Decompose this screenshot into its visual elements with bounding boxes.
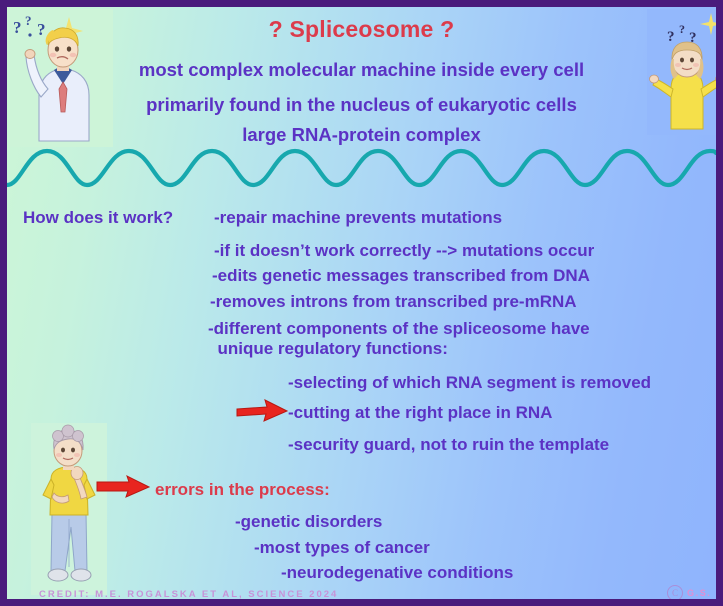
page-title: ? Spliceosome ? — [7, 16, 716, 43]
standing-person-illustration — [31, 423, 107, 595]
copyright-icon: C — [667, 585, 683, 601]
right-arrow-icon-cutting — [235, 398, 289, 424]
how-does-it-work-label: How does it work? — [23, 208, 173, 228]
headline-2: primarily found in the nucleus of eukary… — [7, 94, 716, 116]
right-arrow-icon-errors — [95, 474, 151, 500]
headline-1: most complex molecular machine inside ev… — [7, 59, 716, 81]
bullet-item-3: -edits genetic messages transcribed from… — [212, 266, 590, 286]
poster-root: ? ? ? — [0, 0, 723, 606]
sub-bullet-item-1: -selecting of which RNA segment is remov… — [288, 373, 651, 393]
credit-line: CREDIT: M.E. ROGALSKA ET AL, SCIENCE 202… — [39, 589, 338, 600]
copyright-mark: C G.S. — [667, 585, 711, 601]
headline-3: large RNA-protein complex — [7, 124, 716, 146]
error-item-3: -neurodegenative conditions — [281, 563, 513, 583]
error-item-1: -genetic disorders — [235, 512, 382, 532]
sub-bullet-item-3: -security guard, not to ruin the templat… — [288, 435, 609, 455]
author-initials: G.S. — [687, 588, 711, 598]
bullet-item-4: -removes introns from transcribed pre-mR… — [210, 292, 577, 312]
errors-in-the-process-label: errors in the process: — [155, 480, 330, 500]
sub-bullet-item-2: -cutting at the right place in RNA — [288, 403, 552, 423]
bullet-item-2: -if it doesn’t work correctly --> mutati… — [214, 241, 594, 261]
bullet-item-1: -repair machine prevents mutations — [214, 208, 502, 228]
error-item-2: -most types of cancer — [254, 538, 430, 558]
bullet-item-5: -different components of the spliceosome… — [208, 319, 590, 359]
